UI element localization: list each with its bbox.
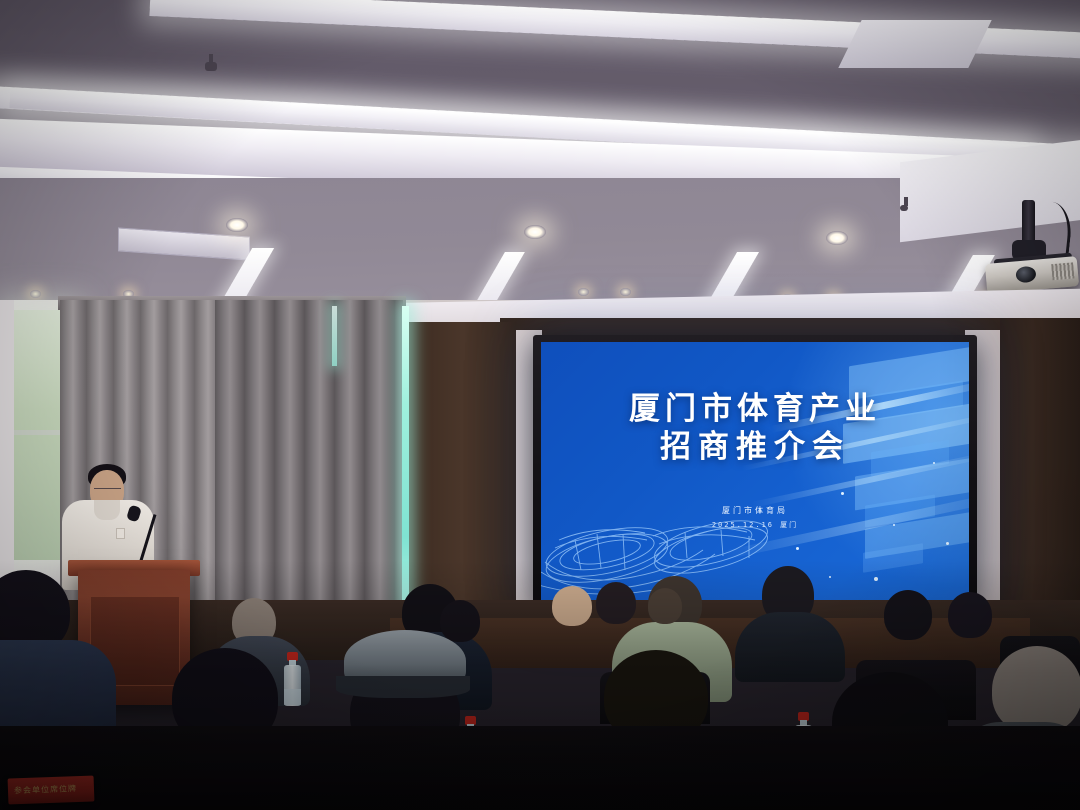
attendee-head bbox=[596, 582, 636, 624]
ceiling bbox=[0, 0, 1080, 340]
slide-title: 厦门市体育产业 招商推介会 bbox=[541, 390, 969, 466]
accent-light-strip bbox=[332, 306, 337, 366]
wood-wall-panel-right bbox=[1000, 318, 1080, 648]
ceiling-downlight bbox=[226, 218, 248, 232]
water-bottle bbox=[284, 652, 301, 706]
name-placard: 参会单位席位牌 bbox=[8, 776, 95, 805]
attendee-head bbox=[552, 586, 592, 626]
slide-sparkle bbox=[829, 576, 831, 578]
display-screen[interactable]: 厦门市体育产业 招商推介会 厦门市体育局 2025.12.16 厦门 bbox=[541, 342, 969, 600]
projector-vent bbox=[1051, 262, 1074, 280]
presentation-display[interactable]: 厦门市体育产业 招商推介会 厦门市体育局 2025.12.16 厦门 bbox=[533, 335, 977, 607]
ceiling-downlight bbox=[620, 288, 631, 296]
ceiling-projector bbox=[986, 200, 1080, 290]
recessed-light-trough-return bbox=[838, 20, 991, 68]
curtain-center bbox=[215, 300, 403, 646]
ceiling-downlight bbox=[30, 290, 41, 298]
slide-sparkle bbox=[946, 542, 949, 545]
attendee-head bbox=[648, 588, 682, 624]
bottle-label bbox=[284, 689, 301, 705]
baseball-cap-brim bbox=[336, 676, 470, 698]
slide-title-line2: 招商推介会 bbox=[541, 428, 969, 466]
conference-room-photo: 厦门市体育产业 招商推介会 厦门市体育局 2025.12.16 厦门 bbox=[0, 0, 1080, 810]
name-placard-text: 参会单位席位牌 bbox=[14, 783, 88, 797]
speaker-badge bbox=[116, 528, 125, 539]
accent-light-strip bbox=[402, 306, 409, 636]
slide-title-line1: 厦门市体育产业 bbox=[629, 391, 881, 427]
projector-lens bbox=[1015, 266, 1036, 284]
attendee-head bbox=[884, 590, 932, 640]
speaker-collar bbox=[94, 500, 120, 520]
bottle-body bbox=[284, 665, 301, 706]
ceiling-downlight bbox=[826, 231, 848, 245]
slide-sparkle bbox=[874, 577, 878, 581]
attendee-torso bbox=[735, 612, 845, 682]
speaker-glasses bbox=[94, 488, 121, 495]
slide-organizer: 厦门市体育局 bbox=[541, 505, 969, 516]
slide-sparkle bbox=[841, 492, 844, 495]
ceiling-downlight bbox=[524, 225, 546, 239]
window-frame bbox=[0, 300, 14, 570]
attendee-head bbox=[948, 592, 992, 638]
ceiling-downlight bbox=[578, 288, 589, 296]
attendee-head bbox=[992, 646, 1080, 734]
smoke-detector bbox=[900, 205, 908, 211]
slide-date-place: 2025.12.16 厦门 bbox=[541, 520, 969, 530]
slide-sparkle bbox=[796, 547, 799, 550]
foreground-table bbox=[0, 726, 1080, 810]
smoke-detector bbox=[205, 62, 217, 71]
attendee-head bbox=[440, 600, 480, 642]
